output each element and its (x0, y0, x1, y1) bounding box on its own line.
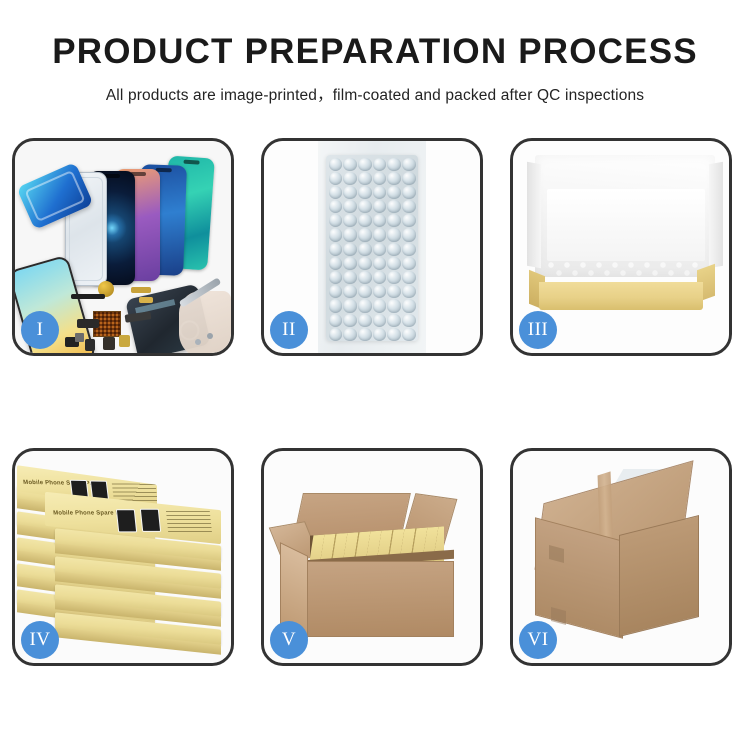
bubble (387, 314, 401, 327)
small-module-part (103, 337, 115, 350)
small-module-part (119, 335, 130, 347)
bubble (402, 214, 416, 227)
bubble (387, 271, 401, 284)
carton-front-face (304, 561, 454, 637)
bubble (387, 285, 401, 298)
bubble (343, 314, 357, 327)
carton-right-face (619, 515, 699, 637)
foam-insert (547, 189, 705, 261)
step-panel-3: III (510, 138, 732, 356)
screw-part (195, 339, 201, 345)
bubble (343, 186, 357, 199)
bubble (329, 243, 343, 256)
step-panel-1: I (12, 138, 234, 356)
page-title: PRODUCT PREPARATION PROCESS (0, 34, 750, 71)
earpiece-bar-part (71, 294, 105, 299)
step-badge-6: VI (519, 621, 557, 659)
bubble (402, 328, 416, 341)
bubble (402, 228, 416, 241)
chip-part (75, 333, 84, 342)
bubble (402, 257, 416, 270)
page-subtitle: All products are image-printed，film-coat… (0, 83, 750, 105)
bubble (343, 243, 357, 256)
bubble (373, 200, 387, 213)
bubble (358, 243, 372, 256)
step-badge-3: III (519, 311, 557, 349)
bubble-wrapped-product (326, 155, 418, 341)
bubble (329, 271, 343, 284)
flex-cable-part (77, 319, 99, 328)
bubble (358, 257, 372, 270)
bubble (343, 228, 357, 241)
bubble (343, 328, 357, 341)
bubble (387, 228, 401, 241)
process-steps-grid: I II III (12, 138, 738, 666)
box-artwork-screen (116, 509, 137, 532)
gold-connector-part (131, 287, 151, 293)
bubble (387, 158, 401, 171)
bubble (373, 186, 387, 199)
bubble (358, 214, 372, 227)
bubble (387, 186, 401, 199)
bubble (373, 214, 387, 227)
bubble (402, 243, 416, 256)
bubble (373, 271, 387, 284)
bubble (387, 257, 401, 270)
bubble (343, 214, 357, 227)
bubble (373, 257, 387, 270)
bubble (373, 228, 387, 241)
bubble (358, 314, 372, 327)
step-badge-5: V (270, 621, 308, 659)
gold-connector-part (139, 297, 153, 303)
bubble (358, 186, 372, 199)
bubble (402, 200, 416, 213)
bubble (402, 158, 416, 171)
step-badge-4: IV (21, 621, 59, 659)
bubble (373, 299, 387, 312)
bubble (373, 314, 387, 327)
box-artwork-screen (140, 509, 161, 532)
bubble (329, 328, 343, 341)
bubble (329, 228, 343, 241)
bubble (387, 299, 401, 312)
bubble (373, 328, 387, 341)
bubble (329, 299, 343, 312)
bubble (329, 314, 343, 327)
step-panel-6: VI (510, 448, 732, 666)
bubble (373, 243, 387, 256)
step-panel-2: II (261, 138, 483, 356)
bubble (402, 172, 416, 185)
bubble (329, 186, 343, 199)
bubble (387, 243, 401, 256)
bubble (358, 158, 372, 171)
bubble (358, 172, 372, 185)
bubble (373, 158, 387, 171)
bubble (373, 285, 387, 298)
bubble (343, 158, 357, 171)
bubble (343, 200, 357, 213)
step-badge-2: II (270, 311, 308, 349)
phone-notch (183, 160, 199, 165)
screw-part (207, 333, 213, 339)
bubble (387, 214, 401, 227)
bubble (343, 172, 357, 185)
bubble (387, 328, 401, 341)
bubble (402, 285, 416, 298)
bubble (343, 285, 357, 298)
bubble (402, 314, 416, 327)
bubble (387, 172, 401, 185)
bubble (329, 257, 343, 270)
bubble (343, 257, 357, 270)
page-header: PRODUCT PREPARATION PROCESS All products… (0, 0, 750, 105)
bubble (358, 328, 372, 341)
step-panel-4: Mobile Phone Spare Parts Mobile Phone Sp… (12, 448, 234, 666)
bubble (402, 271, 416, 284)
bubble (373, 172, 387, 185)
bubble (358, 285, 372, 298)
box-spec-list (166, 511, 212, 533)
box-side (55, 627, 221, 654)
bubble (358, 200, 372, 213)
step-badge-1: I (21, 311, 59, 349)
small-module-part (85, 339, 95, 351)
bubble (329, 285, 343, 298)
bubble (387, 200, 401, 213)
box-front-panel (539, 282, 703, 310)
bubble (402, 186, 416, 199)
bubble (329, 158, 343, 171)
bubble (402, 299, 416, 312)
bubble (358, 228, 372, 241)
bubble (329, 172, 343, 185)
bubble (329, 200, 343, 213)
bubble (358, 271, 372, 284)
bubble (329, 214, 343, 227)
bubble (343, 299, 357, 312)
bubble (358, 299, 372, 312)
bubble (343, 271, 357, 284)
step-panel-5: V (261, 448, 483, 666)
